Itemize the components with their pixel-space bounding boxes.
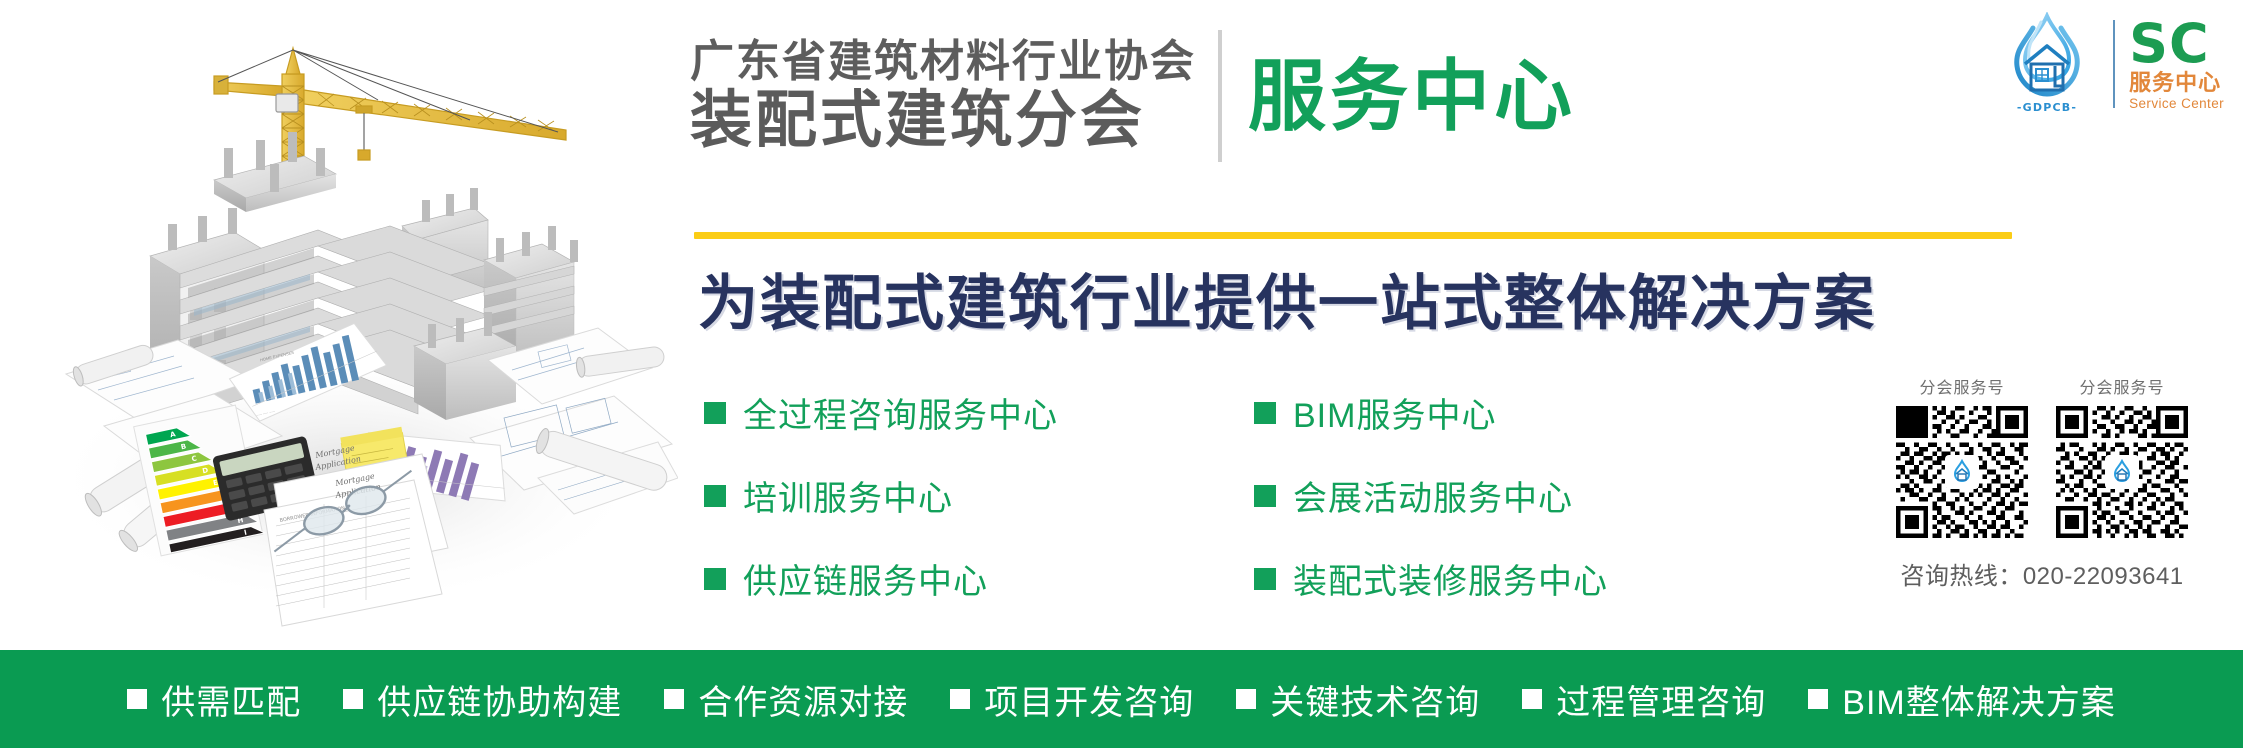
tag-item[interactable]: 供应链协助构建 bbox=[343, 675, 622, 724]
square-bullet-icon bbox=[1236, 689, 1256, 709]
gdpcb-wordmark: -GDPCB- bbox=[2017, 101, 2077, 114]
service-item[interactable]: BIM服务中心 bbox=[1254, 388, 1608, 437]
tag-row: 供需匹配 供应链协助构建 合作资源对接 项目开发咨询 关键技术咨询 过程管理咨询 bbox=[127, 675, 2115, 724]
gdpcb-mark-svg: -GDPCB- bbox=[1995, 12, 2099, 116]
qr-embedded-logo-icon bbox=[1945, 455, 1979, 489]
qr-code-block: 分会服务号 bbox=[1874, 374, 2210, 591]
qr-code-image[interactable] bbox=[2056, 406, 2188, 538]
hotline-text: 咨询热线：020-22093641 bbox=[1874, 556, 2210, 591]
headline-row: 广东省建筑材料行业协会 装配式建筑分会 服务中心 bbox=[690, 30, 1576, 162]
tag-item[interactable]: 项目开发咨询 bbox=[950, 675, 1194, 724]
tag-item[interactable]: 关键技术咨询 bbox=[1236, 675, 1480, 724]
service-item-label: 供应链服务中心 bbox=[743, 554, 988, 603]
tag-item[interactable]: 合作资源对接 bbox=[664, 675, 908, 724]
tag-label: 项目开发咨询 bbox=[984, 675, 1194, 724]
tag-label: BIM整体解决方案 bbox=[1842, 675, 2115, 724]
qr-embedded-logo-icon bbox=[2105, 455, 2139, 489]
tag-label: 关键技术咨询 bbox=[1270, 675, 1480, 724]
qr-code-cell: 分会服务号 bbox=[2056, 374, 2188, 538]
logo-divider bbox=[2113, 20, 2115, 108]
square-bullet-icon bbox=[1254, 402, 1276, 424]
tag-item[interactable]: 供需匹配 bbox=[127, 675, 301, 724]
square-bullet-icon bbox=[664, 689, 684, 709]
bottom-tag-bar: 供需匹配 供应链协助构建 合作资源对接 项目开发咨询 关键技术咨询 过程管理咨询 bbox=[0, 650, 2243, 748]
qr-caption: 分会服务号 bbox=[1919, 374, 2004, 398]
banner-content: -GDPCB- SC 服务中心 Service Center 广东省建筑材料行业… bbox=[690, 0, 2246, 648]
sc-chinese-label: 服务中心 bbox=[2129, 72, 2221, 94]
square-bullet-icon bbox=[343, 689, 363, 709]
qr-code-row: 分会服务号 bbox=[1874, 374, 2210, 538]
promotional-banner: ABC DEF GHI bbox=[0, 0, 2246, 752]
square-bullet-icon bbox=[1254, 568, 1276, 590]
qr-caption: 分会服务号 bbox=[2079, 374, 2164, 398]
square-bullet-icon bbox=[950, 689, 970, 709]
construction-collage-image: ABC DEF GHI bbox=[18, 8, 678, 640]
qr-code-cell: 分会服务号 bbox=[1896, 374, 2028, 538]
tag-label: 合作资源对接 bbox=[698, 675, 908, 724]
qr-code-image[interactable] bbox=[1896, 406, 2028, 538]
brand-logo-cluster: -GDPCB- SC 服务中心 Service Center bbox=[1995, 12, 2224, 116]
service-item-label: 培训服务中心 bbox=[743, 471, 953, 520]
association-name-block: 广东省建筑材料行业协会 装配式建筑分会 bbox=[690, 40, 1196, 152]
sc-brand-block: SC 服务中心 Service Center bbox=[2129, 18, 2224, 111]
qr-logo-svg bbox=[2109, 459, 2135, 485]
tag-label: 供应链协助构建 bbox=[377, 675, 622, 724]
service-item[interactable]: 供应链服务中心 bbox=[704, 554, 1058, 603]
gdpcb-logo-icon: -GDPCB- bbox=[1995, 12, 2099, 116]
tag-item[interactable]: BIM整体解决方案 bbox=[1808, 675, 2115, 724]
service-item-label: BIM服务中心 bbox=[1293, 388, 1496, 437]
headline-vertical-divider bbox=[1218, 30, 1222, 162]
square-bullet-icon bbox=[1254, 485, 1276, 507]
tag-label: 供需匹配 bbox=[161, 675, 301, 724]
gold-divider-rule bbox=[694, 232, 2012, 239]
service-center-heading: 服务中心 bbox=[1248, 57, 1576, 135]
qr-logo-svg bbox=[1949, 459, 1975, 485]
service-item-label: 会展活动服务中心 bbox=[1293, 471, 1573, 520]
service-item[interactable]: 培训服务中心 bbox=[704, 471, 1058, 520]
association-branch-name: 装配式建筑分会 bbox=[690, 90, 1145, 152]
service-item[interactable]: 会展活动服务中心 bbox=[1254, 471, 1608, 520]
service-item-label: 全过程咨询服务中心 bbox=[743, 388, 1058, 437]
square-bullet-icon bbox=[704, 485, 726, 507]
collage-illustration: ABC DEF GHI bbox=[18, 8, 678, 640]
square-bullet-icon bbox=[704, 568, 726, 590]
sc-letters: SC bbox=[2129, 18, 2210, 69]
square-bullet-icon bbox=[1522, 689, 1542, 709]
main-slogan: 为装配式建筑行业提供一站式整体解决方案 bbox=[698, 255, 1876, 342]
service-item-label: 装配式装修服务中心 bbox=[1293, 554, 1608, 603]
service-column-left: 全过程咨询服务中心 培训服务中心 供应链服务中心 bbox=[704, 388, 1058, 603]
service-center-list: 全过程咨询服务中心 培训服务中心 供应链服务中心 BIM服务中心 bbox=[704, 388, 1608, 603]
tag-label: 过程管理咨询 bbox=[1556, 675, 1766, 724]
service-column-right: BIM服务中心 会展活动服务中心 装配式装修服务中心 bbox=[1254, 388, 1608, 603]
sc-english-label: Service Center bbox=[2129, 97, 2224, 111]
association-name-line1: 广东省建筑材料行业协会 bbox=[690, 40, 1196, 84]
square-bullet-icon bbox=[1808, 689, 1828, 709]
square-bullet-icon bbox=[127, 689, 147, 709]
tag-item[interactable]: 过程管理咨询 bbox=[1522, 675, 1766, 724]
service-item[interactable]: 全过程咨询服务中心 bbox=[704, 388, 1058, 437]
square-bullet-icon bbox=[704, 402, 726, 424]
service-item[interactable]: 装配式装修服务中心 bbox=[1254, 554, 1608, 603]
